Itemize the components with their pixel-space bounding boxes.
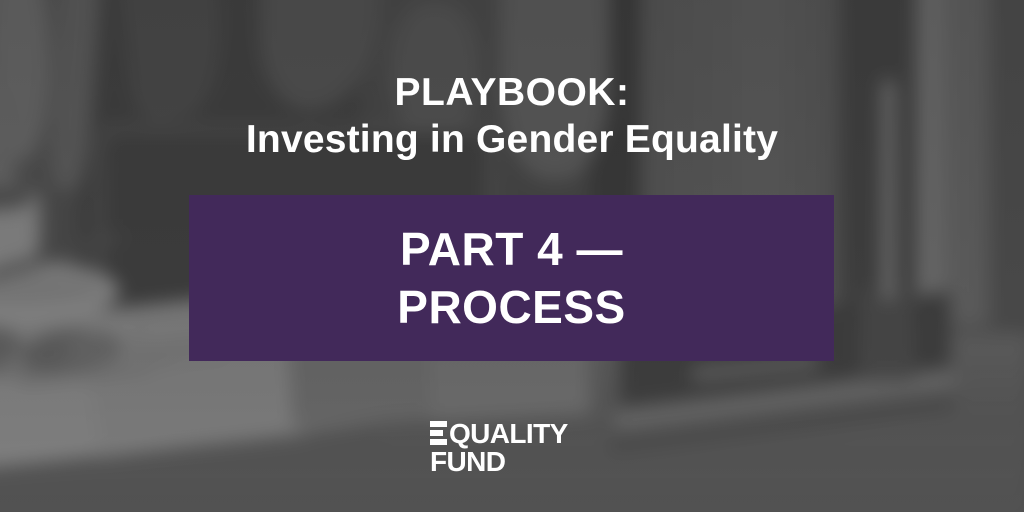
three-bar-e-icon	[430, 421, 447, 446]
playbook-title-line-1: PLAYBOOK:	[0, 70, 1024, 116]
part-label-line-1: PART 4 —	[400, 220, 623, 278]
slide-content: PLAYBOOK: Investing in Gender Equality P…	[0, 0, 1024, 512]
title-block: PLAYBOOK: Investing in Gender Equality	[0, 70, 1024, 164]
part-banner: PART 4 — PROCESS	[189, 195, 834, 361]
playbook-title-line-2: Investing in Gender Equality	[0, 116, 1024, 164]
logo-word-equality: QUALITY	[449, 421, 568, 446]
logo-word-fund: FUND	[430, 448, 568, 475]
slide-canvas: PLAYBOOK: Investing in Gender Equality P…	[0, 0, 1024, 512]
part-label-line-2: PROCESS	[397, 278, 625, 336]
equality-fund-logo: QUALITY FUND	[430, 419, 568, 475]
